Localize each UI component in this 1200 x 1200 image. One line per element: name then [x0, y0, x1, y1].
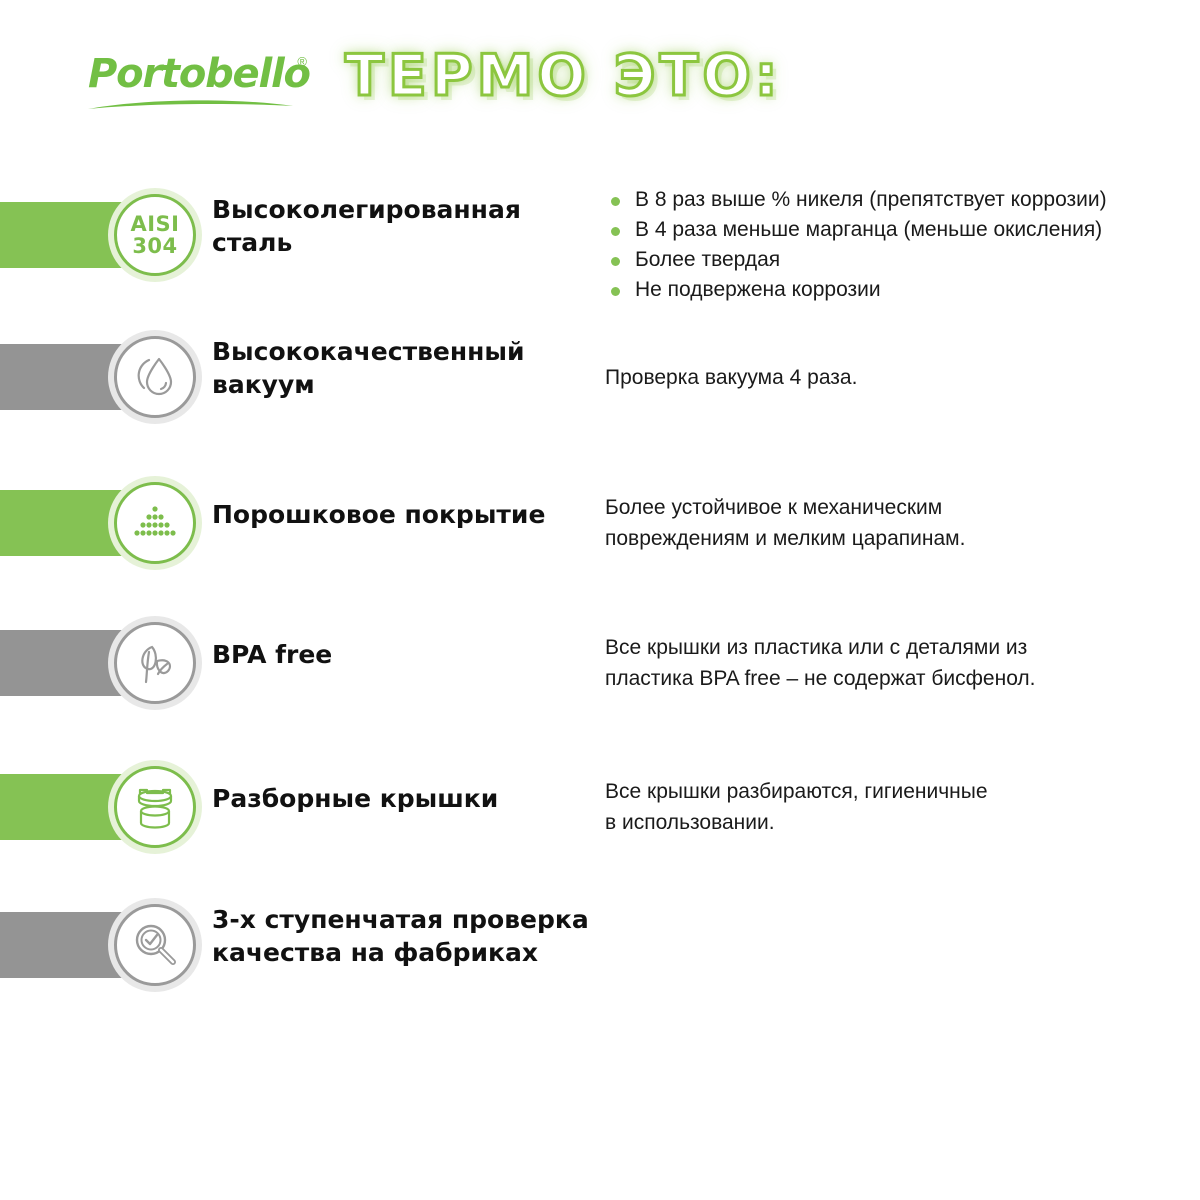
feature-title: Высоколегированная сталь: [212, 193, 521, 259]
feature-row-powder: Порошковое покрытие Более устойчивое к м…: [0, 468, 1200, 578]
feature-body: Более устойчивое к механическим поврежде…: [605, 492, 965, 554]
logo-wordmark: Portobello: [88, 52, 303, 96]
list-item: Не подвержена коррозии: [605, 275, 1107, 305]
badge-glyph: [114, 336, 196, 418]
magnifier-check-icon: [127, 917, 183, 973]
list-item: Более твердая: [605, 245, 1107, 275]
leaves-icon: [128, 636, 182, 690]
page-header: Portobello ® ТЕРМО ЭТО:: [0, 0, 1200, 170]
feature-title: Высококачественный вакуум: [212, 335, 525, 401]
badge-powder: [108, 476, 202, 570]
page-title: ТЕРМО ЭТО:: [345, 42, 782, 110]
list-item: В 8 раз выше % никеля (препятствует корр…: [605, 185, 1107, 215]
badge-lids: [108, 760, 202, 854]
feature-row-lids: Разборные крышки Все крышки разбираются,…: [0, 752, 1200, 862]
feature-bullet-list: В 8 раз выше % никеля (препятствует корр…: [605, 185, 1107, 305]
feature-body: Все крышки из пластика или с деталями из…: [605, 632, 1036, 694]
aisi-line-1: AISI: [130, 213, 179, 235]
registered-trademark-icon: ®: [297, 54, 307, 69]
feature-title: Разборные крышки: [212, 782, 498, 815]
logo-swoosh-icon: [88, 97, 293, 110]
badge-glyph: [114, 622, 196, 704]
powder-dots-icon: [128, 496, 182, 550]
badge-glyph: AISI 304: [114, 194, 196, 276]
feature-row-vacuum: Высококачественный вакуум Проверка вакуу…: [0, 322, 1200, 432]
feature-row-bpa: BPA free Все крышки из пластика или с де…: [0, 608, 1200, 718]
badge-bpa: [108, 616, 202, 710]
list-item: В 4 раза меньше марганца (меньше окислен…: [605, 215, 1107, 245]
aisi-304-badge: AISI 304: [108, 188, 202, 282]
feature-title: Порошковое покрытие: [212, 498, 545, 531]
portobello-logo: Portobello ®: [88, 52, 303, 114]
feature-row-quality: 3-х ступенчатая проверка качества на фаб…: [0, 890, 1200, 1000]
water-drop-icon: [128, 350, 182, 404]
badge-glyph: [114, 904, 196, 986]
feature-title: BPA free: [212, 638, 332, 671]
feature-row-steel: AISI 304 Высоколегированная сталь В 8 ра…: [0, 180, 1200, 290]
badge-glyph: [114, 766, 196, 848]
badge-vacuum: [108, 330, 202, 424]
lid-icon: [127, 779, 183, 835]
badge-quality: [108, 898, 202, 992]
badge-glyph: [114, 482, 196, 564]
feature-body: Проверка вакуума 4 раза.: [605, 362, 857, 393]
feature-title: 3-х ступенчатая проверка качества на фаб…: [212, 903, 589, 969]
feature-body: Все крышки разбираются, гигиеничные в ис…: [605, 776, 988, 838]
aisi-label: AISI 304: [130, 213, 179, 257]
aisi-line-2: 304: [130, 235, 179, 257]
